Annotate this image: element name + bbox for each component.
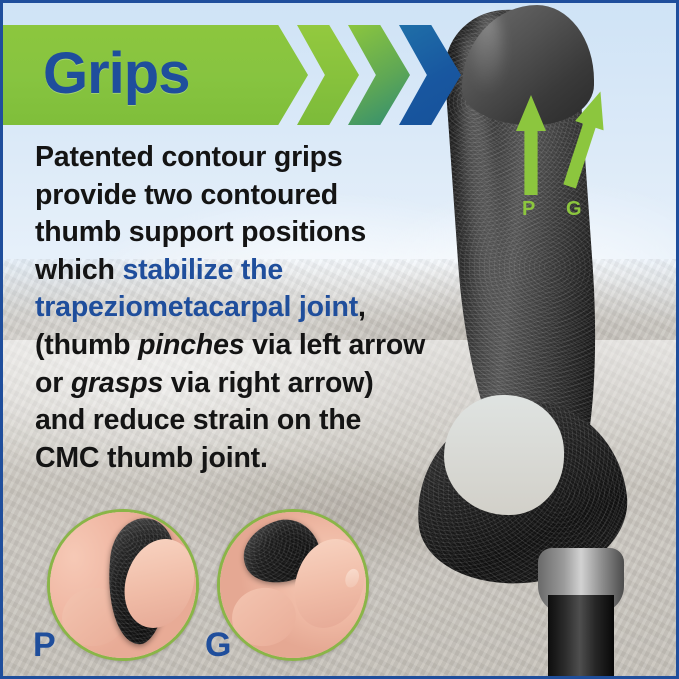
copy-line-9: CMC thumb joint. [35, 442, 268, 474]
copy-line-7-b: via right arrow) [163, 367, 373, 399]
copy-line-4-highlight: stabilize the [122, 254, 283, 286]
pinch-arrow-icon [516, 95, 546, 195]
copy-line-4-plain: which [35, 254, 122, 286]
copy-line-6-b: via left arrow [244, 329, 425, 361]
copy-line-5-highlight: trapeziometacarpal joint [35, 291, 358, 323]
header-banner: Grips [1, 25, 461, 125]
thumbnail [343, 567, 362, 590]
feature-description: Patented contour grips provide two conto… [35, 139, 465, 477]
chevron-3-icon [399, 25, 461, 125]
copy-line-6-a: (thumb [35, 329, 138, 361]
product-feature-poster: P G Grips Patented contour grips provide… [0, 0, 679, 679]
copy-line-1: Patented contour grips [35, 141, 343, 173]
grasp-arrow-label: G [566, 199, 582, 219]
copy-line-3: thumb support positions [35, 216, 366, 248]
copy-line-8: and reduce strain on the [35, 404, 361, 436]
inset-label-g: G [205, 628, 231, 662]
inset-photo-grasp [217, 509, 369, 661]
copy-line-5-comma: , [358, 291, 366, 323]
copy-line-2: provide two contoured [35, 179, 338, 211]
grasp-arrow-icon [555, 87, 614, 191]
grip-direction-arrows: P G [508, 75, 628, 215]
page-title: Grips [43, 45, 190, 103]
inset-photo-pinch [47, 509, 199, 661]
inset-label-p: P [33, 628, 56, 662]
copy-line-6-emphasis: pinches [138, 329, 244, 361]
copy-line-7-a: or [35, 367, 71, 399]
copy-line-7-emphasis: grasps [71, 367, 163, 399]
pinch-arrow-label: P [522, 199, 535, 219]
